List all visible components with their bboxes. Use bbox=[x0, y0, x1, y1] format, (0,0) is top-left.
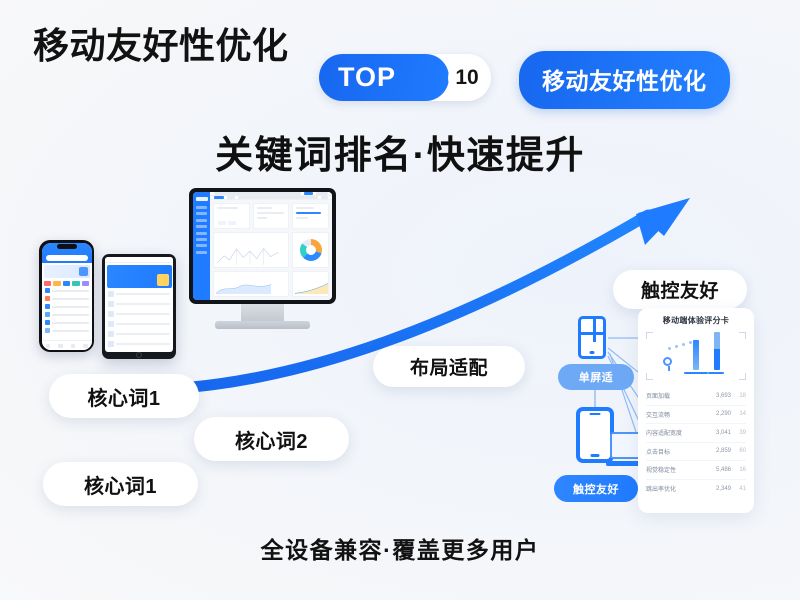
top-badge-number: 10 bbox=[448, 59, 486, 97]
table-row: 页面加载 3,693 18 bbox=[646, 387, 746, 406]
phone-notch bbox=[57, 244, 77, 249]
tablet-statusbar bbox=[105, 257, 173, 263]
phone-search-bar bbox=[46, 255, 88, 261]
row-value: 2,290 bbox=[707, 411, 731, 417]
line-chart-thumb bbox=[216, 245, 284, 265]
tablet-home-button bbox=[136, 352, 142, 358]
small-phone-icon bbox=[578, 316, 606, 359]
area-chart-thumb bbox=[216, 280, 271, 294]
row-delta: 41 bbox=[731, 486, 746, 492]
table-row: 跳出率优化 2,349 41 bbox=[646, 480, 746, 499]
row-name: 交互流畅 bbox=[646, 410, 707, 419]
dashboard-cards bbox=[210, 200, 332, 300]
tablet-screen bbox=[105, 257, 173, 352]
row-name: 视觉稳定性 bbox=[646, 465, 707, 474]
monitor-stand bbox=[241, 304, 284, 322]
row-name: 内容适配宽度 bbox=[646, 428, 707, 437]
touch-friendly-blue-pill[interactable]: 触控友好 bbox=[554, 475, 638, 502]
row-value: 3,041 bbox=[707, 430, 731, 436]
device-mockups bbox=[26, 188, 326, 388]
table-row: 内容适配宽度 3,041 39 bbox=[646, 424, 746, 443]
donut-chart-thumb bbox=[300, 239, 322, 261]
dashboard-logo-icon bbox=[196, 197, 208, 201]
laptop-icon bbox=[606, 432, 642, 466]
table-row: 视觉稳定性 5,486 16 bbox=[646, 461, 746, 480]
phone-app-header bbox=[42, 243, 92, 263]
table-row: 点击目标 2,859 60 bbox=[646, 443, 746, 462]
top-rank-badge: TOP 10 bbox=[319, 54, 491, 101]
phone-quick-icons bbox=[42, 280, 92, 287]
keyword-pill-3[interactable]: 核心词1 bbox=[43, 462, 198, 506]
row-value: 3,693 bbox=[707, 393, 731, 399]
poster-canvas: 移动友好性优化 TOP 10 移动友好性优化 关键词排名·快速提升 bbox=[0, 0, 800, 600]
top-badge-blue-pill: TOP bbox=[319, 54, 449, 101]
row-name: 页面加载 bbox=[646, 391, 707, 400]
scorecard-title: 移动端体验评分卡 bbox=[646, 315, 746, 326]
page-title: 移动友好性优化 bbox=[33, 28, 289, 64]
row-name: 跳出率优化 bbox=[646, 484, 707, 493]
header-tag-pill: 移动友好性优化 bbox=[519, 51, 730, 109]
peak-chart-thumb bbox=[295, 280, 329, 294]
row-value: 2,349 bbox=[707, 486, 731, 492]
touch-friendly-pill[interactable]: 触控友好 bbox=[613, 270, 747, 309]
keyword-pill-1[interactable]: 核心词1 bbox=[49, 374, 199, 418]
location-pin-icon bbox=[663, 357, 672, 366]
top-badge-label: TOP bbox=[338, 62, 396, 93]
row-value: 2,859 bbox=[707, 448, 731, 454]
layout-fit-pill[interactable]: 布局适配 bbox=[373, 346, 525, 387]
phone-banner bbox=[44, 265, 90, 278]
row-delta: 14 bbox=[731, 411, 746, 417]
dashboard-main bbox=[210, 192, 332, 300]
phone-screen bbox=[42, 243, 92, 350]
tablet-hero-banner bbox=[107, 265, 172, 288]
monitor-base bbox=[215, 321, 310, 329]
phone-tabbar bbox=[42, 340, 92, 350]
scorecard-table: 页面加载 3,693 18 交互流畅 2,290 14 内容适配宽度 3,041… bbox=[646, 387, 746, 498]
tablet-mockup bbox=[102, 254, 176, 359]
table-row: 交互流畅 2,290 14 bbox=[646, 406, 746, 425]
multi-screen-pill[interactable]: 单屏适 bbox=[558, 364, 634, 390]
dashboard-sidebar bbox=[193, 192, 210, 300]
row-delta: 18 bbox=[731, 393, 746, 399]
keyword-pill-2[interactable]: 核心词2 bbox=[194, 417, 349, 461]
row-delta: 60 bbox=[731, 448, 746, 454]
row-delta: 39 bbox=[731, 430, 746, 436]
row-name: 点击目标 bbox=[646, 447, 707, 456]
footer-tagline: 全设备兼容·覆盖更多用户 bbox=[0, 531, 800, 565]
row-value: 5,486 bbox=[707, 467, 731, 473]
mobile-phone-mockup bbox=[39, 240, 94, 352]
page-subtitle: 关键词排名·快速提升 bbox=[0, 124, 800, 179]
scorecard-visual bbox=[646, 332, 746, 380]
mobile-scorecard-panel: 移动端体验评分卡 页面加载 3,693 18 交互流畅 2,290 14 bbox=[638, 308, 754, 513]
desktop-screen bbox=[193, 192, 332, 300]
row-delta: 16 bbox=[731, 467, 746, 473]
desktop-monitor bbox=[189, 188, 336, 304]
